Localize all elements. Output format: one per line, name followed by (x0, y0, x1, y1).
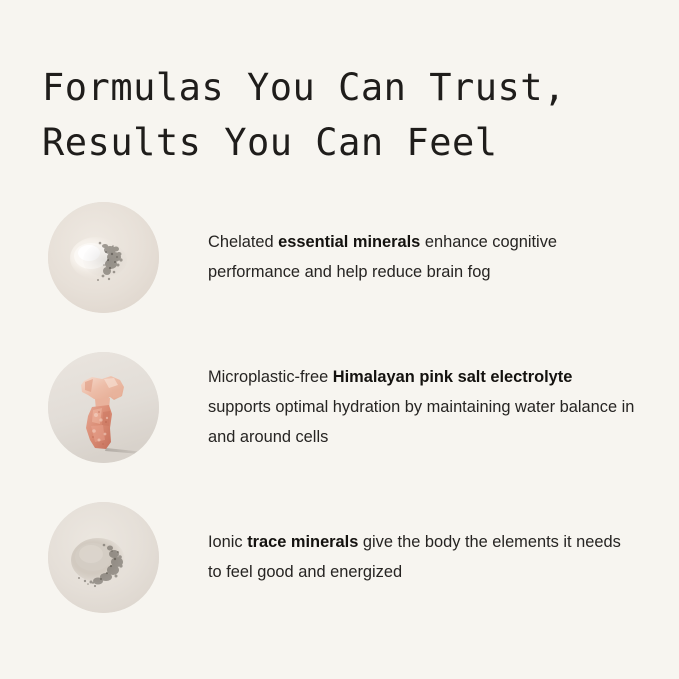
grey-trace-mineral-powder-circle (48, 502, 159, 613)
feature-text-segment: Microplastic-free (208, 368, 333, 386)
feature-text: Ionic trace minerals give the body the e… (208, 527, 638, 587)
feature-row: Ionic trace minerals give the body the e… (0, 482, 679, 632)
himalayan-pink-salt-rock-circle (48, 352, 159, 463)
feature-text: Chelated essential minerals enhance cogn… (208, 227, 638, 287)
feature-text-segment: Ionic (208, 533, 247, 551)
feature-list: Chelated essential minerals enhance cogn… (0, 182, 679, 632)
marketing-panel: Formulas You Can Trust, Results You Can … (0, 0, 679, 679)
feature-text-segment: Chelated (208, 233, 278, 251)
page-title: Formulas You Can Trust, Results You Can … (42, 61, 652, 171)
feature-row: Chelated essential minerals enhance cogn… (0, 182, 679, 332)
feature-text-emphasis: trace minerals (247, 533, 358, 551)
white-mineral-powder-circle (48, 202, 159, 313)
feature-text-emphasis: Himalayan pink salt electrolyte (333, 368, 573, 386)
feature-row: Microplastic-free Himalayan pink salt el… (0, 332, 679, 482)
feature-text-segment: supports optimal hydration by maintainin… (208, 398, 634, 446)
feature-text-emphasis: essential minerals (278, 233, 420, 251)
feature-text: Microplastic-free Himalayan pink salt el… (208, 362, 638, 452)
